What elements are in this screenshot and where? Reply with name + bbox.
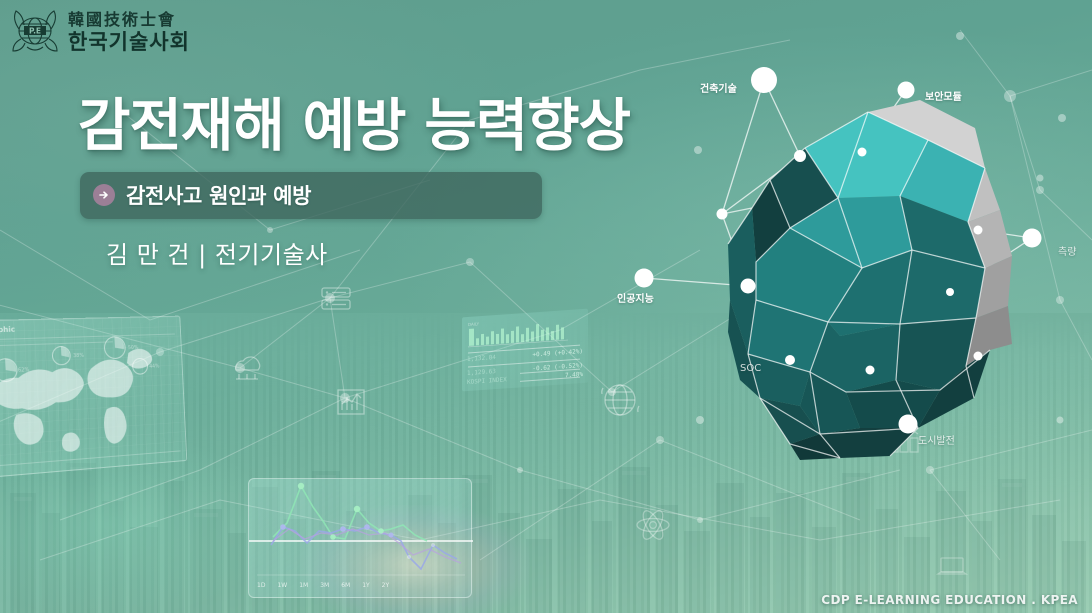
presentation-slide: Infographic [0,0,1092,613]
world-map-panel: Infographic [0,316,187,480]
ticker-bar-chart-icon: DAILY [462,309,588,392]
svg-text:44%: 44% [149,364,160,370]
logo-mark-text: P.E [29,27,41,36]
page-title: 감전재해 예방 능력향상 [78,96,630,158]
logo-hanja-text: 韓國技術士會 [68,12,190,28]
globe-laurel-emblem-icon: P.E [9,7,61,57]
range-1d[interactable]: 1D [257,582,265,589]
node-label-survey: 측량 [1058,243,1076,258]
ticker-chart-label: DAILY [468,321,480,327]
range-3m[interactable]: 3M [320,582,329,589]
range-1m[interactable]: 1M [299,582,308,589]
cloud-network-icon [236,357,260,379]
ticker-left-0: 1,132.04 [467,354,496,363]
organization-logo: P.E 韓國技術士會 한국기술사회 [9,7,190,57]
title-block: 감전재해 예방 능력향상 감전사고 원인과 예방 김 만 건 | 전기기술사 [78,96,630,270]
node-label-security: 보안모듈 [925,88,962,103]
svg-text:38%: 38% [73,353,84,359]
building-chart-icon [890,428,918,452]
range-6m[interactable]: 6M [341,582,350,589]
ticker-right-0: +0.49 (+0.42%) [532,348,583,359]
world-map-icon: 62%38% 50%44% [0,317,188,481]
author-line: 김 만 건 | 전기기술사 [106,235,630,270]
cityscape-backdrop [0,313,1092,613]
footer-text: CDP E-LEARNING EDUCATION . KPEA [821,593,1078,607]
globe-meridian-icon [602,385,639,415]
subtitle-pill: 감전사고 원인과 예방 [80,172,542,219]
node-label-ai: 인공지능 [617,290,654,305]
line-chart-icon [249,479,473,599]
node-label-architecture: 건축기술 [700,80,737,95]
atom-icon [637,508,669,542]
left-glow [0,430,280,613]
line-chart-panel: 1D 1W 1M 3M 6M 1Y 2Y [248,478,472,598]
subtitle-text: 감전사고 원인과 예방 [126,180,311,210]
chart-range-selector[interactable]: 1D 1W 1M 3M 6M 1Y 2Y [257,582,389,589]
range-1w[interactable]: 1W [277,582,287,589]
ticker-right-2: 7.48% [565,371,583,379]
logo-korean-text: 한국기술사회 [68,32,190,53]
ticker-left-2: KOSPI INDEX [467,376,507,386]
ticker-right-1: -0.62 (-0.52%) [532,362,583,373]
range-2y[interactable]: 2Y [382,582,389,589]
range-1y[interactable]: 1Y [362,582,369,589]
node-label-urban: 도시발전 [918,432,955,447]
svg-text:62%: 62% [18,367,30,374]
map-panel-title: Infographic [0,326,15,336]
ticker-left-1: 1,129.63 [467,368,496,377]
cityscape-buildings [0,363,1092,613]
node-label-soc: SOC [740,363,761,374]
svg-text:50%: 50% [128,345,139,351]
arrow-right-circle-icon [93,184,115,206]
laptop-icon [938,558,966,574]
server-stack-icon [322,288,350,309]
bar-chart-icon [338,390,364,414]
low-poly-sphere [728,100,1012,460]
lens-flare [300,505,530,613]
stock-ticker-panel: DAILY 1,132.04 +0.49 (+0.42%) 1,129.63 [462,309,588,392]
